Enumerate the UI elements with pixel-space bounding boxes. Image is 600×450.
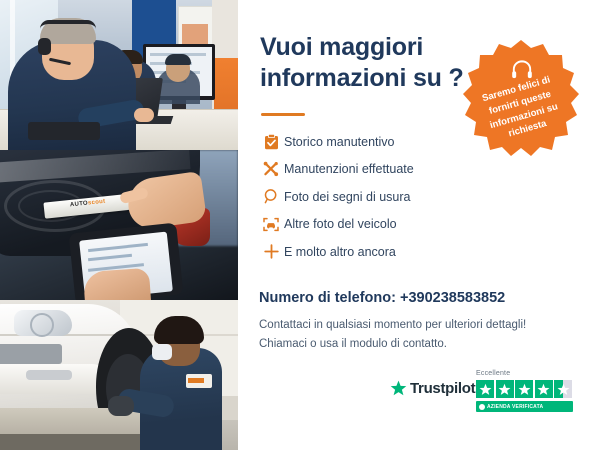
trustpilot-wordmark: Trustpilot <box>410 380 475 397</box>
list-item-label: Altre foto del veicolo <box>284 217 397 231</box>
contact-line-2: Chiamaci o usa il modulo di contatto. <box>259 335 579 354</box>
desk-tablet <box>28 122 100 140</box>
uniform-badge <box>186 374 212 388</box>
rating-label: Eccellente <box>476 370 510 377</box>
verified-company-badge: AZIENDA VERIFICATA <box>476 401 573 412</box>
mechanic-hair <box>154 316 204 344</box>
title-line-1: Vuoi maggiori <box>260 32 490 63</box>
trustpilot-widget[interactable]: Trustpilot Eccellente <box>390 370 586 418</box>
feature-list: Storico manutentivo Manutenzioni effettu… <box>258 128 518 266</box>
tablet-vehicle-inspection-photo: AUTOscout <box>0 150 238 300</box>
content-panel: Vuoi maggiori informazioni su ? Saremo f… <box>238 0 600 450</box>
title-divider <box>261 113 305 116</box>
promo-panel: AUTOscout <box>0 0 600 450</box>
phone-number[interactable]: Numero di telefono: +390238583852 <box>259 290 505 306</box>
star-filled <box>535 380 553 398</box>
star-half <box>554 380 572 398</box>
work-glove <box>108 396 134 416</box>
agent-one-hand <box>134 108 154 122</box>
list-item: Altre foto del veicolo <box>258 211 518 239</box>
car-grille <box>0 344 62 364</box>
fog-light <box>26 370 72 380</box>
list-item-label: Foto dei segni di usura <box>284 190 410 204</box>
poster-image <box>182 24 208 44</box>
list-item: Manutenzioni effettuate <box>258 156 518 184</box>
list-item: Foto dei segni di usura <box>258 183 518 211</box>
call-center-agents-photo <box>0 0 238 150</box>
headset-band <box>40 20 96 29</box>
verified-label: AZIENDA VERIFICATA <box>487 404 543 410</box>
contact-line-1: Contattaci in qualsiasi momento per ulte… <box>259 316 579 335</box>
contact-description: Contattaci in qualsiasi momento per ulte… <box>259 316 579 353</box>
list-item: E molto altro ancora <box>258 238 518 266</box>
headset-icon <box>511 60 533 80</box>
trustpilot-star-icon <box>390 380 407 397</box>
list-item-label: E molto altro ancora <box>284 245 396 259</box>
agent-three-hair <box>165 54 191 65</box>
car-frame-icon <box>258 217 284 232</box>
title-line-2: informazioni su ? <box>260 63 490 94</box>
star-filled <box>496 380 514 398</box>
list-item: Storico manutentivo <box>258 128 518 156</box>
headset-earcup <box>38 38 51 55</box>
plus-icon <box>258 244 284 259</box>
star-filled <box>515 380 533 398</box>
face-mask <box>152 344 172 360</box>
magnifier-icon <box>258 189 284 204</box>
headlight-ring <box>30 313 54 337</box>
list-item-label: Manutenzioni effettuate <box>284 162 414 176</box>
star-filled <box>476 380 494 398</box>
clipboard-check-icon <box>258 134 284 150</box>
list-item-label: Storico manutentivo <box>284 135 394 149</box>
page-title: Vuoi maggiori informazioni su ? <box>260 32 490 93</box>
tools-cross-icon <box>258 161 284 177</box>
check-icon <box>479 404 485 410</box>
photo-column: AUTOscout <box>0 0 238 450</box>
trustpilot-logo: Trustpilot <box>390 380 475 397</box>
star-rating <box>476 380 572 398</box>
mechanic-wheel-inspection-photo <box>0 300 238 450</box>
